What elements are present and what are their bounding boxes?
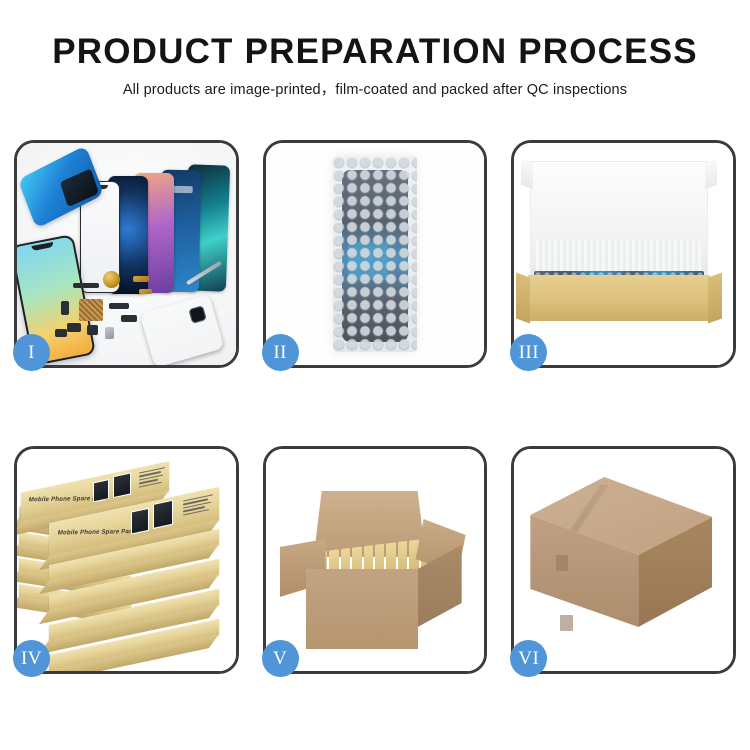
process-step-5: V (263, 446, 488, 674)
step-1-numeral: I (28, 343, 35, 362)
step-6-photo-sealed-carton (514, 449, 733, 671)
product-preparation-infographic: PRODUCT PREPARATION PROCESS All products… (0, 0, 750, 750)
box-spec-lines (183, 494, 213, 515)
step-2-image-frame (266, 143, 485, 365)
process-step-2: II (263, 140, 488, 368)
step-2-photo-bubble-wrap (266, 143, 485, 365)
step-4-image-frame: Mobile Phone Spare Parts Mobile Phone Sp… (17, 449, 236, 671)
step-6-image-frame (514, 449, 733, 671)
carton-tape-tab-upper-icon (556, 555, 568, 571)
box-product-image-1 (93, 479, 109, 502)
process-step-6: VI (511, 446, 736, 674)
header: PRODUCT PREPARATION PROCESS All products… (0, 30, 750, 100)
process-step-grid: I II (14, 140, 736, 674)
step-2-badge: II (262, 334, 299, 371)
speaker-mesh-icon (103, 271, 120, 288)
box-product-image-2 (113, 472, 131, 498)
box-brand-label: Mobile Phone Spare Parts (57, 528, 138, 537)
part-cable-icon (109, 303, 129, 309)
step-5-photo-open-carton (266, 449, 485, 671)
step-3-numeral: III (519, 343, 539, 362)
step-5-image-frame (266, 449, 485, 671)
process-step-3: III (511, 140, 736, 368)
part-metal-shield-icon (105, 327, 114, 339)
part-chip-icon (55, 329, 67, 337)
step-3-image-frame (514, 143, 733, 365)
carton-front-face-icon (306, 569, 418, 649)
box-product-image-2 (153, 500, 173, 529)
process-step-1: I (14, 140, 239, 368)
step-2-numeral: II (273, 343, 287, 362)
step-5-numeral: V (273, 649, 287, 668)
step-3-badge: III (510, 334, 547, 371)
part-button-icon (87, 325, 98, 335)
kraft-box-tray-icon (528, 275, 710, 321)
step-1-badge: I (13, 334, 50, 371)
retail-box-stack-icon: Mobile Phone Spare Parts Mobile Phone Sp… (19, 469, 225, 655)
bubble-wrap-package-icon (333, 156, 417, 352)
step-6-badge: VI (510, 640, 547, 677)
step-6-numeral: VI (518, 649, 539, 668)
page-title: PRODUCT PREPARATION PROCESS (0, 30, 750, 74)
process-step-4: Mobile Phone Spare Parts Mobile Phone Sp… (14, 446, 239, 674)
part-small-black-icon (61, 301, 69, 315)
part-gold-bracket-icon (139, 289, 152, 294)
carton-tape-tab-lower-icon (560, 615, 573, 631)
box-spec-lines (139, 467, 165, 487)
bubble-shading-icon (333, 156, 417, 352)
step-4-photo-box-stack: Mobile Phone Spare Parts Mobile Phone Sp… (17, 449, 236, 671)
part-flex-strip-icon (73, 283, 99, 288)
step-4-numeral: IV (21, 649, 42, 668)
page-subtitle: All products are image-printed，film-coat… (0, 80, 750, 100)
part-battery-tab-icon (67, 323, 81, 332)
part-gold-connector-icon (133, 276, 149, 282)
part-copper-grid-icon (79, 299, 103, 321)
open-shipping-carton-icon (280, 483, 466, 651)
sealed-shipping-carton-icon (530, 477, 712, 641)
part-camera-flex-icon (121, 315, 137, 322)
step-3-photo-open-retail-box (514, 143, 733, 365)
step-4-badge: IV (13, 640, 50, 677)
step-1-image-frame (17, 143, 236, 365)
step-5-badge: V (262, 640, 299, 677)
box-product-image-1 (131, 508, 149, 535)
step-1-photo-phone-parts (17, 143, 236, 365)
